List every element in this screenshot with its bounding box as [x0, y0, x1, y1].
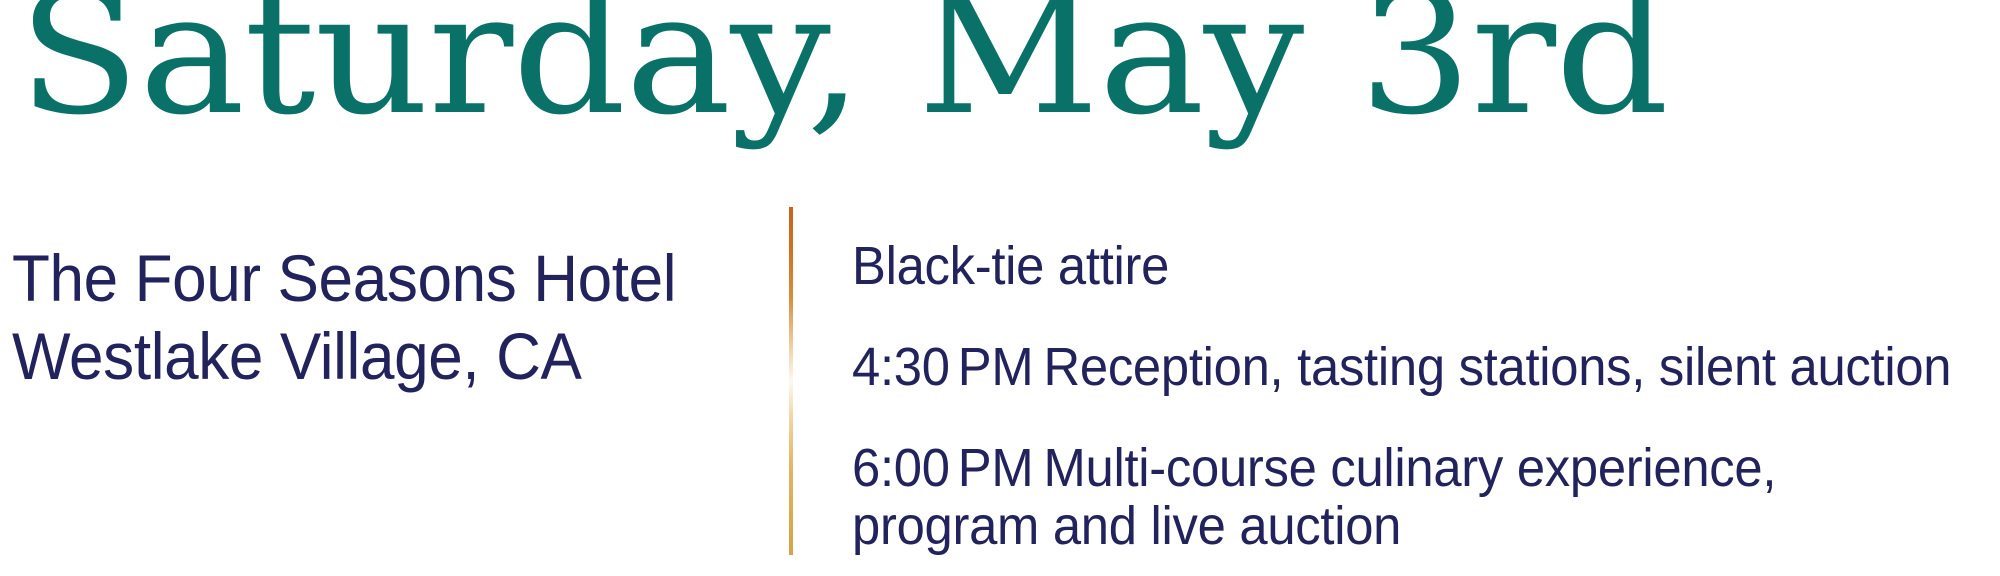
schedule-item-description: Reception, tasting stations, silent auct…	[1044, 337, 1952, 397]
venue-name: The Four Seasons Hotel	[12, 240, 708, 318]
schedule-item: 6:00PMMulti-course culinary experience, …	[852, 440, 1811, 554]
dress-code-text: Black-tie attire	[852, 238, 1961, 295]
schedule-item-time: 4:30PM	[852, 337, 1044, 397]
schedule-item-time-value: 6:00	[852, 438, 950, 498]
schedule-item: 4:30PMReception, tasting stations, silen…	[852, 339, 1961, 396]
schedule-item-meridiem: PM	[958, 438, 1034, 498]
schedule-item-meridiem: PM	[958, 337, 1034, 397]
venue-block: The Four Seasons Hotel Westlake Village,…	[12, 240, 708, 396]
schedule-item-time: 6:00PM	[852, 438, 1044, 498]
event-date-headline: Saturday, May 3rd	[18, 0, 2000, 138]
schedule-item-time-value: 4:30	[852, 337, 950, 397]
event-details-card: Saturday, May 3rd The Four Seasons Hotel…	[0, 0, 2000, 576]
venue-location: Westlake Village, CA	[12, 318, 708, 396]
vertical-gradient-divider	[789, 207, 793, 555]
schedule-block: Black-tie attire 4:30PMReception, tastin…	[852, 238, 1961, 555]
